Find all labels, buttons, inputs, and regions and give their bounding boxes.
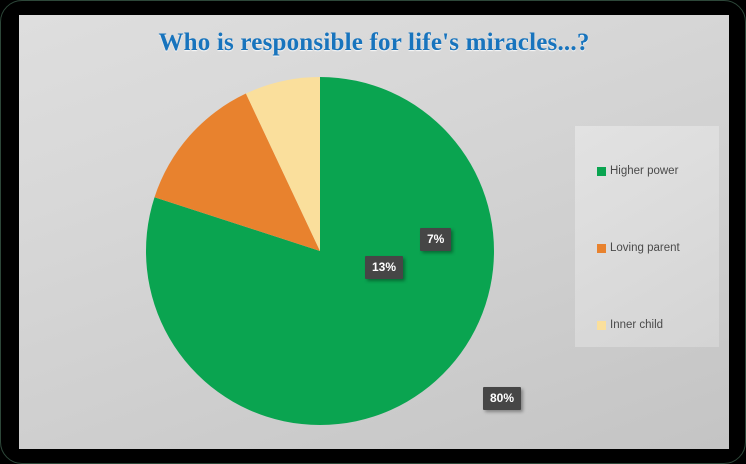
data-label-loving-parent: 13%: [365, 256, 403, 279]
chart-legend: Higher power Loving parent Inner child: [575, 126, 719, 347]
data-label-inner-child: 7%: [420, 228, 451, 251]
chart-title: Who is responsible for life's miracles..…: [19, 29, 729, 57]
data-label-higher-power: 80%: [483, 387, 521, 410]
pie-chart: 80% 13% 7%: [145, 76, 495, 426]
slide-frame: Who is responsible for life's miracles..…: [0, 0, 746, 464]
legend-item-higher-power[interactable]: Higher power: [597, 166, 678, 178]
legend-item-loving-parent[interactable]: Loving parent: [597, 243, 680, 255]
legend-item-label: Higher power: [610, 166, 678, 178]
legend-swatch-icon: [597, 167, 606, 176]
legend-swatch-icon: [597, 321, 606, 330]
pie-chart-svg: [145, 76, 495, 426]
legend-item-inner-child[interactable]: Inner child: [597, 320, 663, 332]
legend-swatch-icon: [597, 244, 606, 253]
legend-item-label: Inner child: [610, 320, 663, 332]
legend-item-label: Loving parent: [610, 243, 680, 255]
chart-slide: Who is responsible for life's miracles..…: [19, 15, 729, 449]
